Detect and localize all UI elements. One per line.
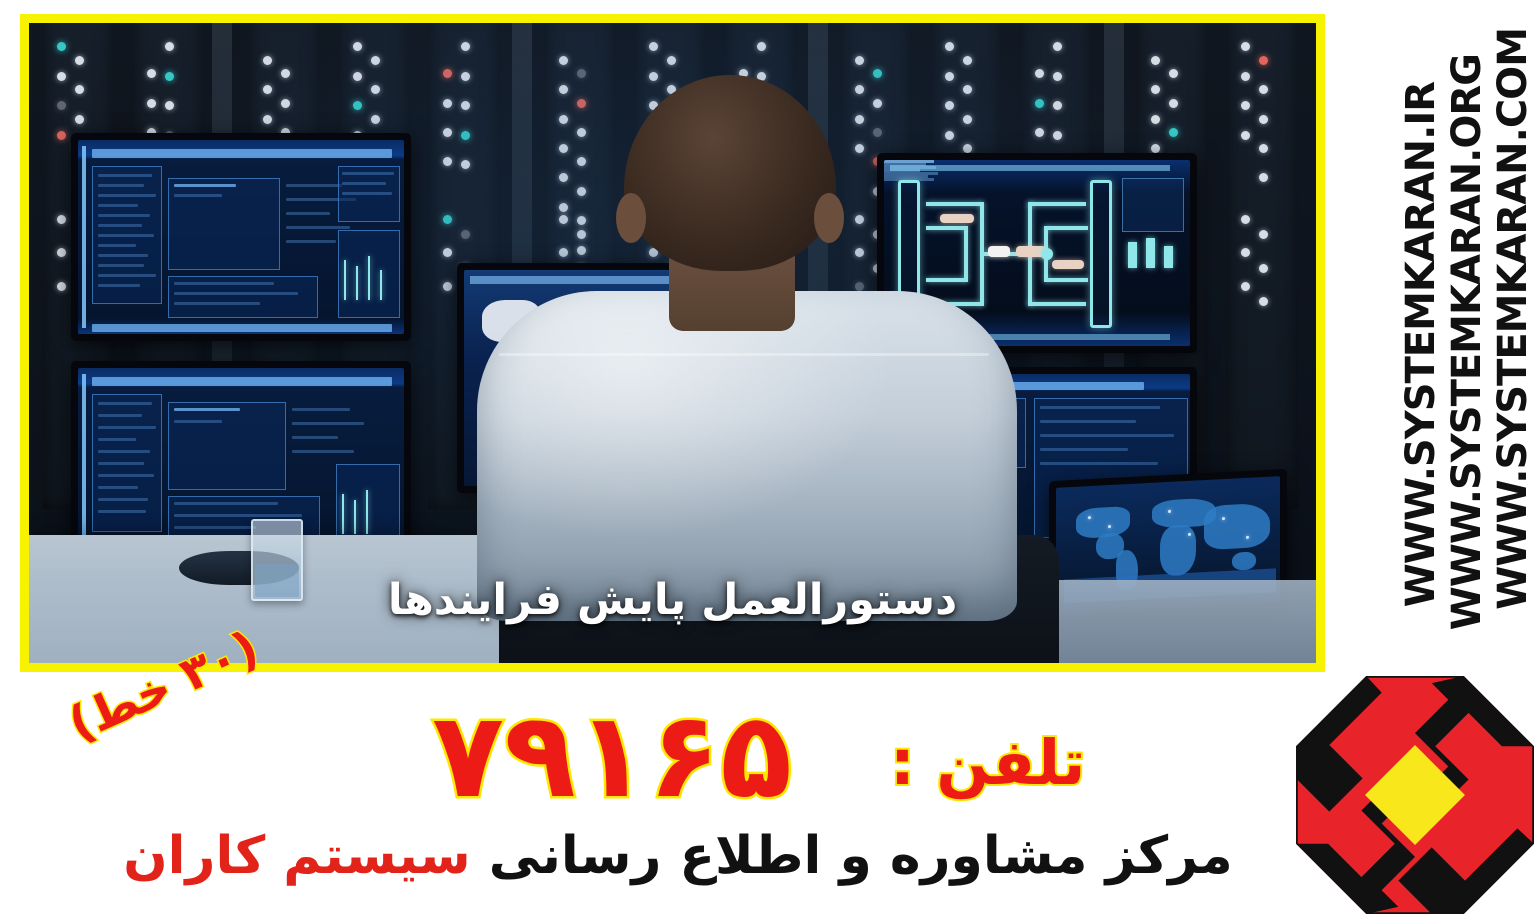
tagline-brand: سیستم کاران <box>123 826 470 886</box>
photo-title-overlay: دستورالعمل پایش فرایندها <box>29 575 1316 625</box>
monitor-top-left <box>71 133 411 341</box>
person-shirt-seam <box>499 353 989 356</box>
photo-panel: دستورالعمل پایش فرایندها <box>20 14 1325 672</box>
website-urls-block: WWW.SYSTEMKARAN.COM WWW.SYSTEMKARAN.ORG … <box>1328 0 1536 672</box>
phone-label: تلفن : <box>890 726 1085 799</box>
photo-image: دستورالعمل پایش فرایندها <box>29 23 1316 663</box>
url-org[interactable]: WWW.SYSTEMKARAN.ORG <box>1444 54 1490 630</box>
tagline-prefix: مرکز مشاوره و اطلاع رسانی <box>489 826 1413 886</box>
company-tagline: مرکز مشاوره و اطلاع رسانی سیستم کاران <box>0 826 1536 886</box>
person-shirt <box>477 291 1017 621</box>
url-ir[interactable]: WWW.SYSTEMKARAN.IR <box>1398 82 1444 607</box>
url-com[interactable]: WWW.SYSTEMKARAN.COM <box>1490 28 1536 610</box>
phone-number[interactable]: ۷۹۱۶۵ <box>432 686 792 824</box>
